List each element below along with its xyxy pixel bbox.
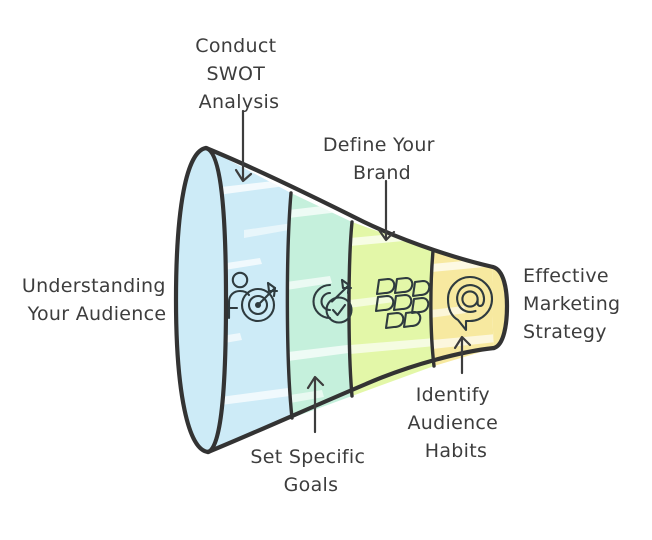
stage-2-body [288, 193, 352, 418]
marketing-funnel-diagram: Conduct SWOT Analysis Define Your Brand … [0, 0, 652, 540]
stage-3-body [350, 222, 434, 396]
label-conduct-swot-analysis: Conduct SWOT Analysis [195, 35, 282, 113]
label-understanding-your-audience: Understanding Your Audience [22, 275, 172, 325]
label-identify-audience-habits: Identify Audience Habits [408, 384, 505, 462]
label-set-specific-goals: Set Specific Goals [250, 446, 371, 496]
label-define-your-brand: Define Your Brand [323, 134, 441, 184]
funnel-stage-1[interactable] [176, 148, 300, 452]
label-effective-marketing-strategy: Effective Marketing Strategy [523, 265, 627, 343]
